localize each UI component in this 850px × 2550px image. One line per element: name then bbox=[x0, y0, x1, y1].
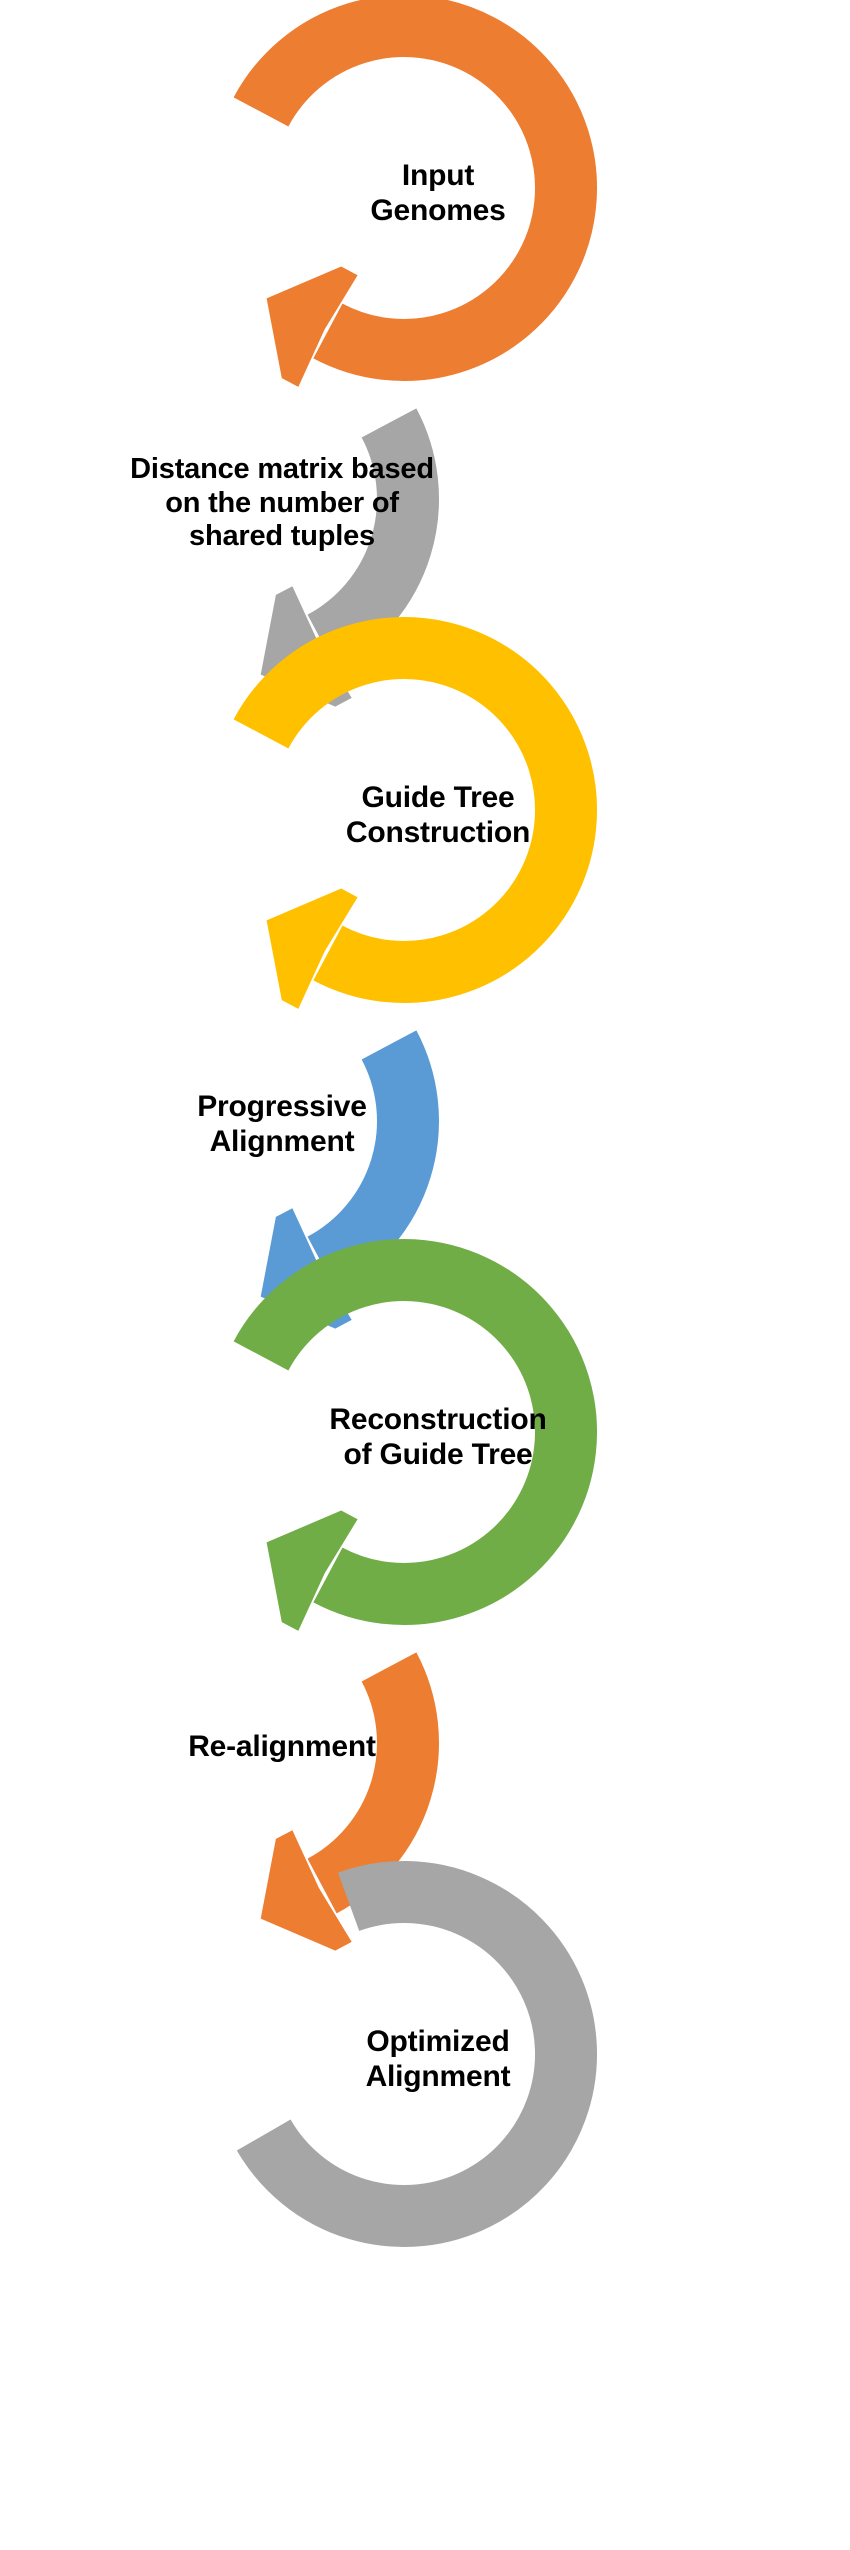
step-arrow-reconstruction bbox=[261, 1270, 566, 1631]
arc-stroke-6 bbox=[322, 1667, 408, 1886]
arc-stroke-4 bbox=[322, 1045, 408, 1264]
arc-stroke-7 bbox=[264, 1892, 566, 2216]
flow-arrows-svg bbox=[0, 0, 850, 2550]
step-arrow-guide-tree bbox=[261, 648, 566, 1009]
workflow-diagram: Input Genomes Distance matrix based on t… bbox=[0, 0, 850, 2550]
step-arrow-input-genomes bbox=[261, 26, 566, 387]
step-arrow-optimized-alignment bbox=[264, 1892, 566, 2216]
arc-stroke-2 bbox=[322, 423, 408, 642]
